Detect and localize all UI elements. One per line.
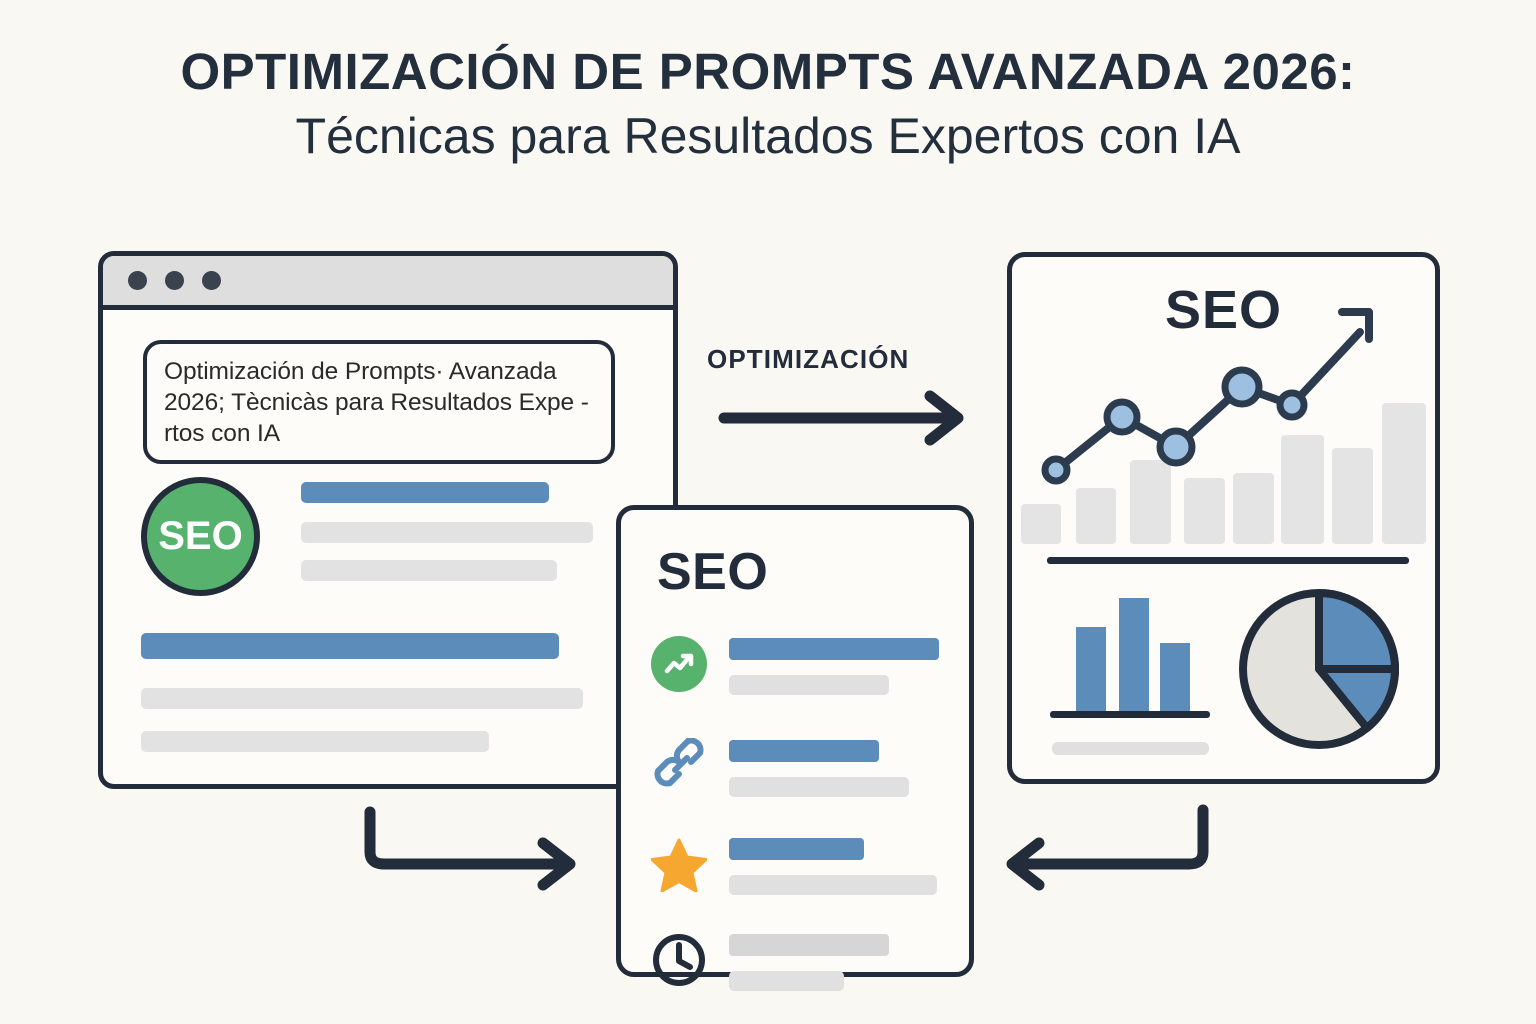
arrow-elbow-down-left [1012, 810, 1203, 885]
mini-chart-caption-bar [1052, 742, 1209, 755]
browser-titlebar [103, 256, 673, 310]
row-bar-primary [729, 838, 864, 860]
seo-badge: SEO [141, 477, 260, 596]
content-bar-3 [301, 560, 557, 581]
arrow-elbow-down-right [370, 812, 570, 885]
mini-bar-baseline [1050, 711, 1210, 718]
browser-mockup: Optimización de Prompts· Avanzada 2026; … [98, 251, 678, 789]
trending-up-glyph [662, 647, 696, 681]
star-glyph [651, 836, 707, 892]
trending-up-icon [651, 636, 707, 692]
window-minimize-dot-icon[interactable] [165, 271, 184, 290]
row-bar-secondary [729, 875, 937, 895]
content-bar-5 [141, 688, 583, 709]
seo-card-row-clock [651, 928, 951, 1002]
connector-label-optimizacion: OPTIMIZACIÓN [707, 344, 909, 375]
seo-badge-label: SEO [158, 514, 242, 559]
link-glyph [651, 738, 707, 794]
seo-checklist-card: SEO [616, 505, 974, 977]
mini-bar-2 [1119, 598, 1149, 711]
content-bar-6 [141, 731, 489, 752]
row-bar-secondary [729, 777, 909, 797]
star-icon [651, 836, 707, 892]
infographic-canvas: OPTIMIZACIÓN DE PROMPTS AVANZADA 2026: T… [0, 0, 1536, 1024]
content-bar-4 [141, 633, 559, 659]
browser-content-area: Optimización de Prompts· Avanzada 2026; … [103, 310, 673, 784]
seo-card-row-link [651, 734, 951, 808]
content-bar-2 [301, 522, 593, 543]
seo-card-row-bars [729, 638, 939, 695]
seo-card-row-bars [729, 740, 909, 797]
headline-text: Optimización de Prompts· Avanzada 2026; … [164, 357, 595, 450]
mini-pie-chart [1234, 584, 1404, 754]
row-bar-primary [729, 740, 879, 762]
headline-input-box[interactable]: Optimización de Prompts· Avanzada 2026; … [143, 340, 615, 464]
arrow-right-optimizacion [724, 396, 958, 440]
page-title: OPTIMIZACIÓN DE PROMPTS AVANZADA 2026: T… [0, 42, 1536, 168]
seo-card-title: SEO [657, 542, 768, 602]
seo-card-row-bars [729, 934, 889, 991]
link-icon [651, 738, 707, 794]
clock-glyph [651, 932, 707, 988]
analytics-divider [1047, 557, 1409, 564]
content-bar-1 [301, 482, 549, 503]
seo-growth-line-chart [1012, 257, 1435, 557]
clock-icon [651, 932, 707, 988]
mini-bar-1 [1076, 627, 1106, 711]
analytics-panel: SEO [1007, 252, 1440, 784]
page-title-line-2: Técnicas para Resultados Expertos con IA [0, 105, 1536, 168]
row-bar-primary [729, 638, 939, 660]
row-bar-primary [729, 934, 889, 956]
seo-card-row-trending [651, 632, 951, 706]
row-bar-secondary [729, 675, 889, 695]
seo-card-row-star [651, 832, 951, 906]
page-title-line-1: OPTIMIZACIÓN DE PROMPTS AVANZADA 2026: [0, 42, 1536, 101]
window-maximize-dot-icon[interactable] [202, 271, 221, 290]
mini-bar-3 [1160, 643, 1190, 711]
window-close-dot-icon[interactable] [128, 271, 147, 290]
seo-card-row-bars [729, 838, 937, 895]
row-bar-secondary [729, 971, 844, 991]
